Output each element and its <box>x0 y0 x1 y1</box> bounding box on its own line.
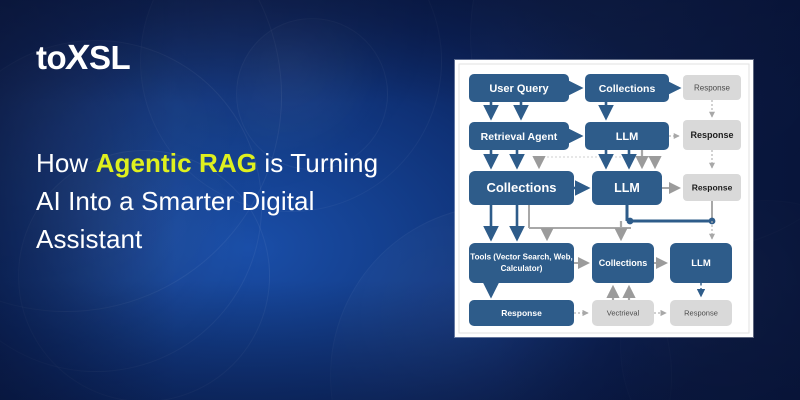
node-response-2[interactable]: Response <box>683 120 741 150</box>
node-response-1-label: Response <box>694 84 731 93</box>
node-retrieval-agent-label: Retrieval Agent <box>481 131 558 143</box>
headline-line3: Assistant <box>36 224 142 254</box>
node-response-2-label: Response <box>690 130 733 140</box>
node-tools-label-line2: Calculator) <box>501 264 543 273</box>
headline-line1-pre: How <box>36 148 96 178</box>
agentic-rag-flow-diagram: User Query Collections Response Retrieva… <box>455 60 753 337</box>
node-response-5[interactable]: Response <box>670 300 732 326</box>
node-llm-3-label: LLM <box>691 258 711 269</box>
node-collections-2[interactable]: Collections <box>469 171 574 205</box>
node-response-5-label: Response <box>684 308 718 317</box>
node-llm-1-label: LLM <box>616 131 639 143</box>
node-collections-2-label: Collections <box>486 180 556 195</box>
node-llm-1[interactable]: LLM <box>585 122 669 150</box>
node-response-3-label: Response <box>692 182 733 192</box>
node-user-query-label: User Query <box>489 83 549 95</box>
promotional-banner: toXSL How Agentic RAG is Turning AI Into… <box>0 0 800 400</box>
node-llm-2[interactable]: LLM <box>592 171 662 205</box>
node-collections-3[interactable]: Collections <box>592 243 654 283</box>
headline-line1-post: is Turning <box>257 148 378 178</box>
node-retrieval-agent[interactable]: Retrieval Agent <box>469 122 569 150</box>
node-tools-label-line1: Tools (Vector Search, Web, <box>470 253 572 262</box>
node-response-4[interactable]: Response <box>469 300 574 326</box>
node-collections-3-label: Collections <box>599 258 648 268</box>
node-llm-2-label: LLM <box>614 181 640 195</box>
headline-accent: Agentic RAG <box>96 148 257 178</box>
architecture-diagram-card: User Query Collections Response Retrieva… <box>455 60 753 337</box>
page-title: How Agentic RAG is Turning AI Into a Sma… <box>36 145 431 259</box>
brand-logo[interactable]: toXSL <box>36 40 130 75</box>
logo-text-x: X <box>64 40 91 75</box>
node-llm-3[interactable]: LLM <box>670 243 732 283</box>
node-response-3[interactable]: Response <box>683 174 741 201</box>
logo-text-sl: SL <box>89 41 130 74</box>
node-response-4-label: Response <box>501 308 542 318</box>
node-vectrieval[interactable]: Vectrieval <box>592 300 654 326</box>
node-collections-1-label: Collections <box>599 83 656 95</box>
node-collections-1[interactable]: Collections <box>585 74 669 102</box>
node-response-1[interactable]: Response <box>683 75 741 100</box>
node-vectrieval-label: Vectrieval <box>607 308 640 317</box>
node-user-query[interactable]: User Query <box>469 74 569 102</box>
headline-line2: AI Into a Smarter Digital <box>36 186 315 216</box>
node-tools[interactable]: Tools (Vector Search, Web, Calculator) <box>469 243 574 283</box>
logo-text-to: to <box>36 41 66 74</box>
